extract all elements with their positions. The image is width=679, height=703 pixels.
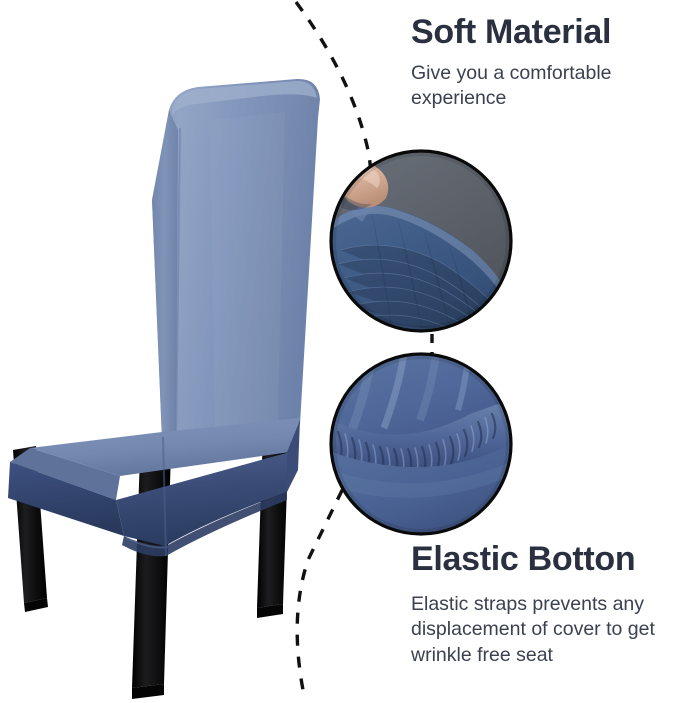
bottom-callout-curve bbox=[297, 470, 352, 700]
feature-block-elastic-bottom: Elastic Botton Elastic straps prevents a… bbox=[411, 541, 673, 668]
feature-description-elastic-bottom: Elastic straps prevents any displacement… bbox=[411, 577, 673, 668]
feature-heading-soft-material: Soft Material bbox=[411, 14, 673, 50]
feature-heading-elastic-bottom: Elastic Botton bbox=[411, 541, 673, 577]
inset-elastic-bottom bbox=[331, 354, 511, 534]
feature-block-soft-material: Soft Material Give you a comfortable exp… bbox=[411, 14, 673, 112]
inset-soft-material bbox=[331, 151, 511, 354]
feature-description-soft-material: Give you a comfortable experience bbox=[411, 50, 673, 112]
product-infographic: Soft Material Give you a comfortable exp… bbox=[0, 0, 679, 703]
chair-illustration bbox=[8, 79, 320, 699]
